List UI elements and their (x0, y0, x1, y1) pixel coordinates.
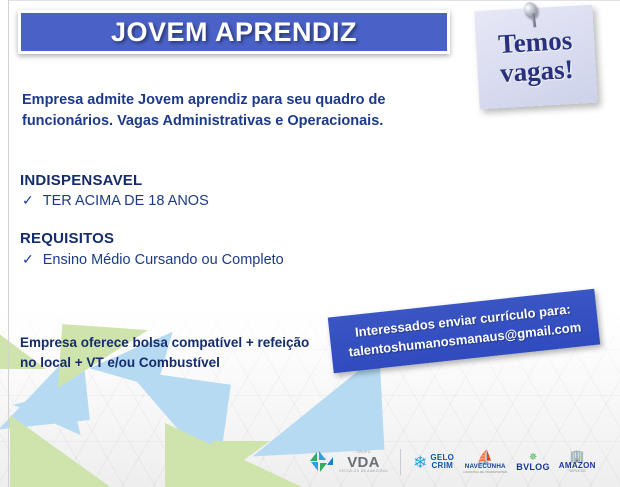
bvlog-wordmark: BVLOG (516, 463, 550, 472)
poster-title-bar: JOVEM APRENDIZ (18, 10, 450, 54)
sticky-note: Temos vagas! (474, 5, 597, 109)
check-icon: ✓ (22, 252, 34, 267)
logo-divider (400, 449, 401, 475)
logo-vda: GRUPO VDA VEICULOS DA AMAZONIA (310, 451, 388, 473)
list-item: ✓ TER ACIMA DE 18 ANOS (22, 193, 209, 209)
logo-navecunha: ⛵ NAVECUNHA LOGISTICA DE TRANSPORTES (463, 450, 507, 473)
list-item-label: TER ACIMA DE 18 ANOS (43, 193, 209, 209)
vda-tagline: VEICULOS DA AMAZONIA (339, 470, 388, 474)
section-heading-indispensavel: INDISPENSAVEL (20, 172, 142, 189)
section-heading-requisitos: REQUISITOS (20, 230, 114, 247)
amazon-tagline: SERVICOS (569, 470, 585, 473)
page-title: JOVEM APRENDIZ (111, 17, 357, 48)
top-rule (8, 0, 620, 1)
logo-gelo-crim: ❄ GELO CRIM (413, 454, 454, 471)
starburst-icon: ✵ (529, 453, 537, 463)
sticky-note-line2: vagas! (499, 56, 574, 87)
list-item-label: Ensino Médio Cursando ou Completo (43, 252, 284, 268)
list-item: ✓ Ensino Médio Cursando ou Completo (22, 252, 284, 268)
gelo-wordmark-line2: CRIM (431, 462, 453, 470)
check-icon: ✓ (22, 193, 34, 208)
vda-wordmark: VDA (347, 455, 380, 470)
job-poster: JOVEM APRENDIZ Temos vagas! Empresa admi… (0, 0, 620, 487)
decorative-shard-green (10, 415, 130, 487)
ship-icon: ⛵ (477, 450, 494, 464)
offer-text: Empresa oferece bolsa compatível + refei… (20, 333, 320, 374)
sticky-note-line1: Temos (497, 27, 572, 58)
logo-amazon: 🏢 AMAZON SERVICOS (559, 450, 596, 473)
logo-bvlog: ✵ BVLOG (516, 453, 550, 472)
navecunha-tagline: LOGISTICA DE TRANSPORTES (463, 471, 507, 474)
vda-arrows-icon (310, 451, 336, 473)
snowflake-icon: ❄ (413, 454, 427, 471)
intro-paragraph: Empresa admite Jovem aprendiz para seu q… (22, 90, 452, 132)
partner-logo-strip: GRUPO VDA VEICULOS DA AMAZONIA ❄ GELO CR… (310, 445, 596, 479)
left-rule (8, 0, 9, 487)
